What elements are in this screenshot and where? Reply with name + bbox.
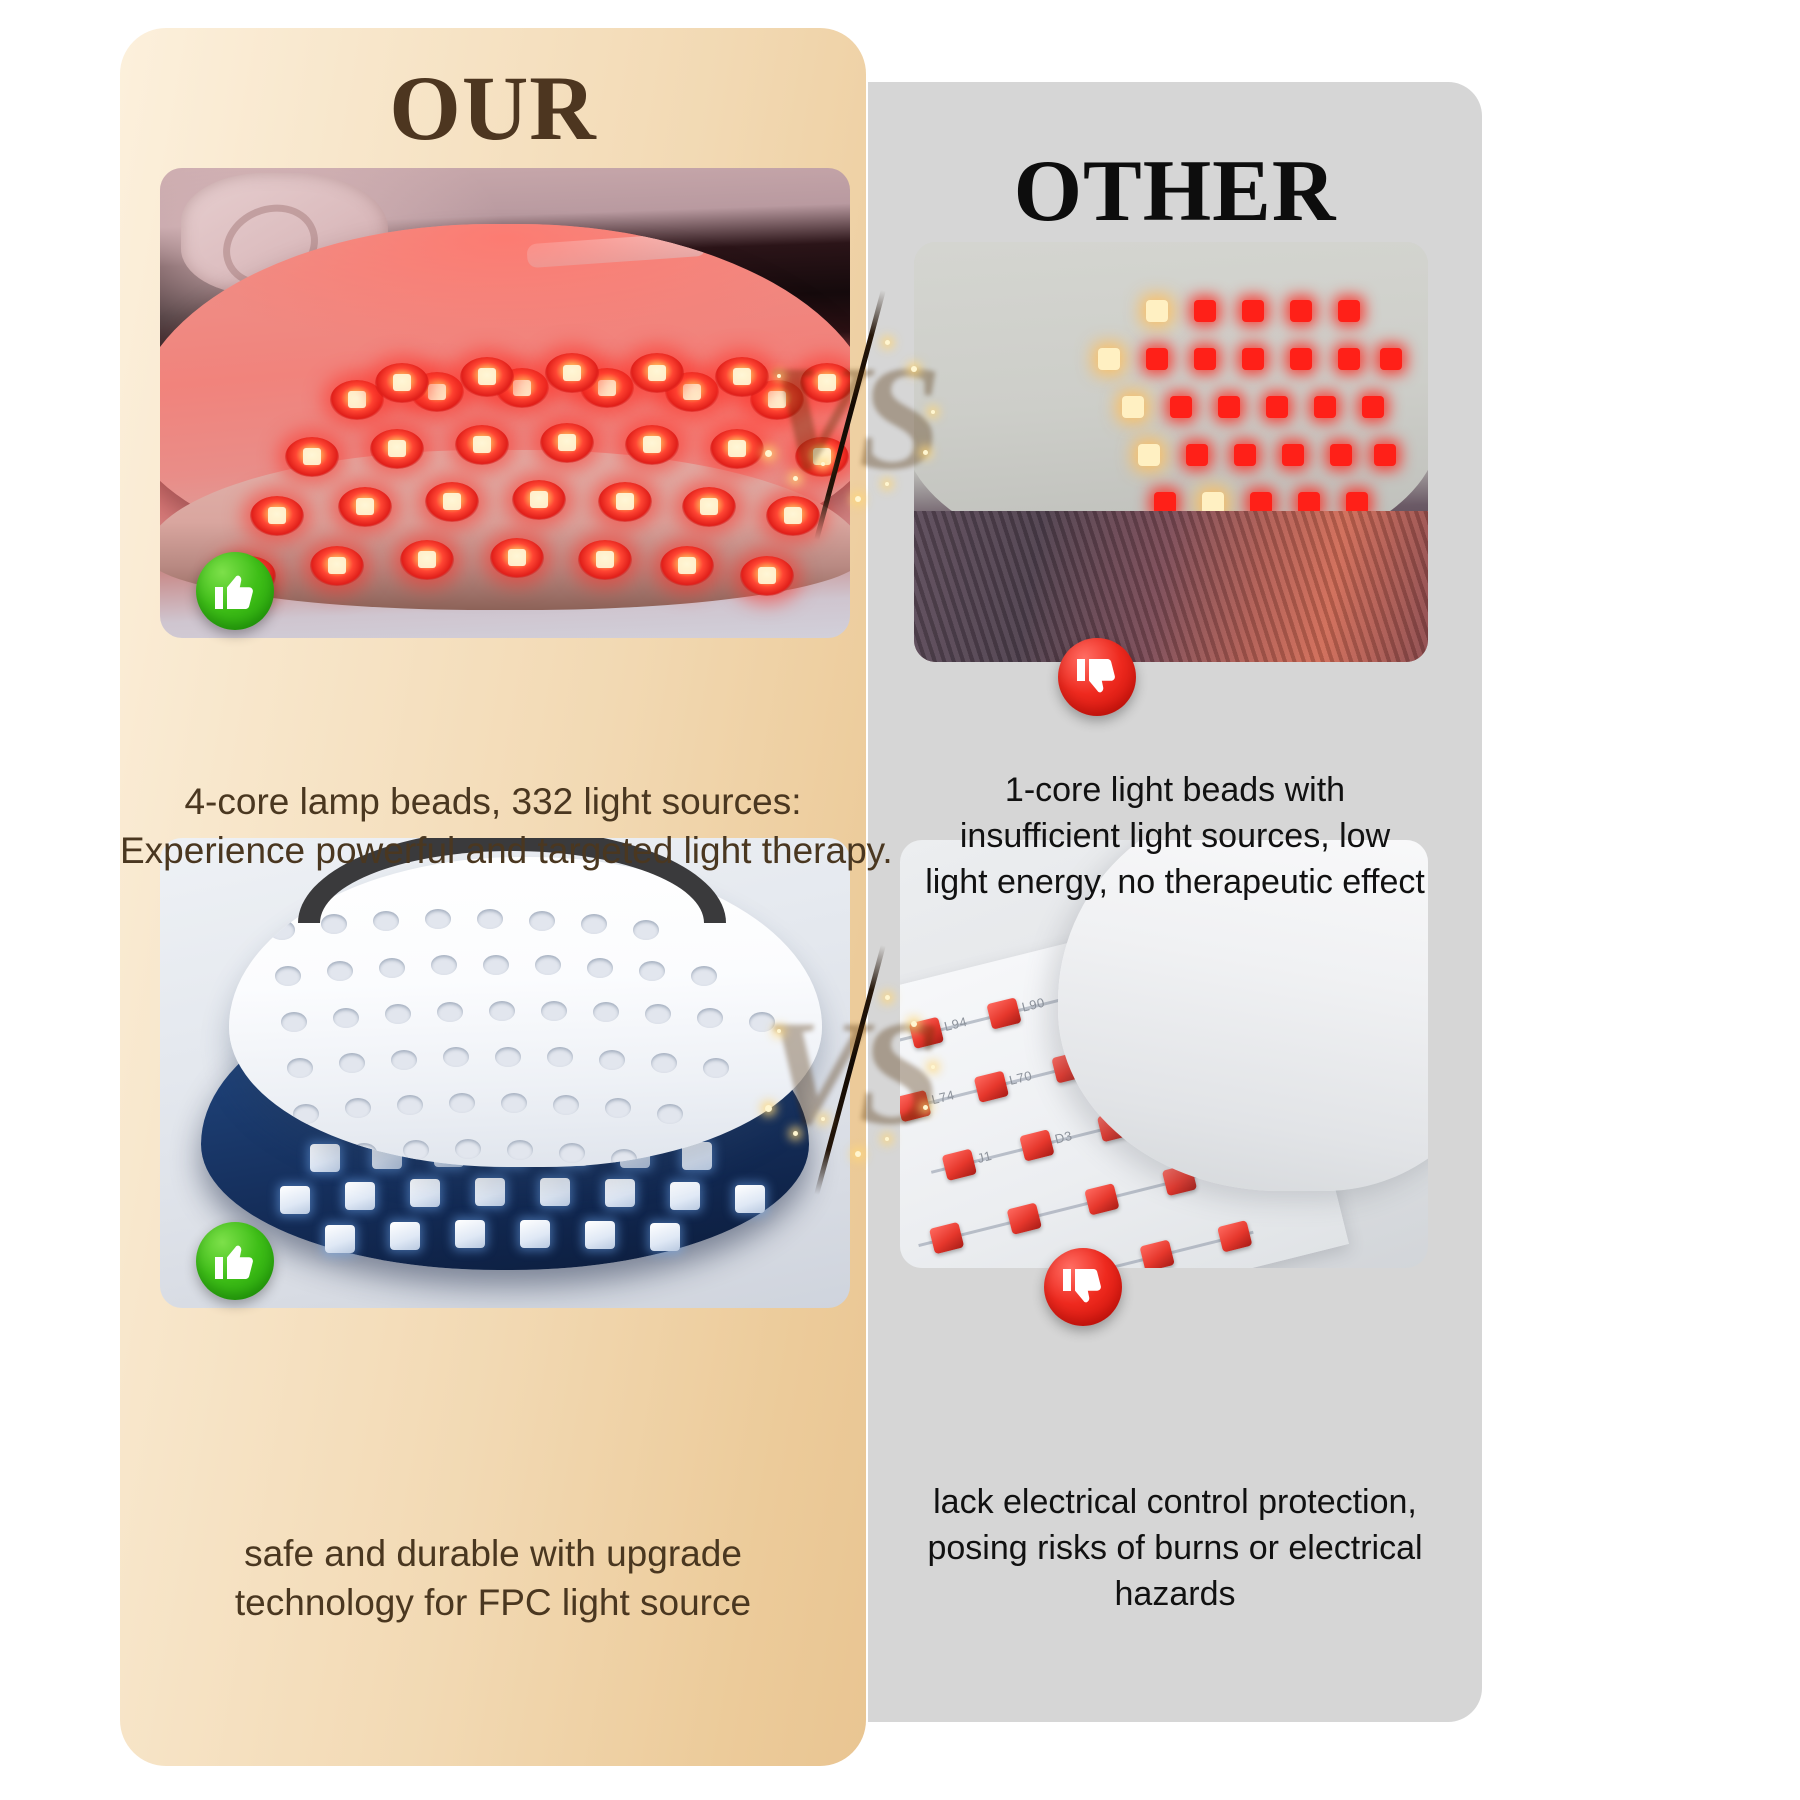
vent-hole: [483, 955, 509, 975]
vent-hole: [507, 1140, 533, 1160]
led-bead: [490, 538, 544, 578]
vent-hole: [275, 966, 301, 986]
thumbs-up-icon: [196, 552, 274, 630]
led-bead: [578, 540, 632, 580]
smd-led: [670, 1182, 700, 1210]
led-dot: [1282, 444, 1304, 466]
vent-hole: [327, 961, 353, 981]
vent-hole: [547, 1047, 573, 1067]
led-dot: [1098, 348, 1120, 370]
led-bead: [425, 482, 479, 522]
comparison-infographic: OUR OTHER: [0, 0, 1800, 1800]
led-bead: [250, 496, 304, 536]
caption-line: insufficient light sources, low: [868, 814, 1482, 860]
sparkle-icon: [765, 450, 772, 457]
other-title: OTHER: [868, 148, 1482, 236]
vs-emblem: VS: [735, 955, 965, 1185]
sparkle-icon: [821, 462, 825, 466]
vent-hole: [703, 1058, 729, 1078]
vent-hole: [501, 1093, 527, 1113]
led-bead: [375, 363, 429, 403]
caption-line: safe and durable with upgrade: [120, 1530, 866, 1579]
vent-hole: [281, 1012, 307, 1032]
vent-hole: [443, 1047, 469, 1067]
vent-hole: [403, 1140, 429, 1160]
led-bead: [682, 487, 736, 527]
caption-line: hazards: [868, 1572, 1482, 1618]
led-bead: [285, 437, 339, 477]
led-dot: [1330, 444, 1352, 466]
vent-hole: [489, 1001, 515, 1021]
pcb-silkscreen-code: J1: [976, 1148, 994, 1166]
thumbs-down-icon: [1058, 638, 1136, 716]
led-dot: [1338, 348, 1360, 370]
vent-hole: [657, 1104, 683, 1124]
vent-hole: [379, 958, 405, 978]
vent-hole: [397, 1095, 423, 1115]
caption-line: technology for FPC light source: [120, 1579, 866, 1628]
vent-hole: [385, 1004, 411, 1024]
led-dot: [1194, 300, 1216, 322]
caption-line: light energy, no therapeutic effect: [868, 860, 1482, 906]
led-bead: [400, 540, 454, 580]
led-bead: [660, 546, 714, 586]
led-dot: [1194, 348, 1216, 370]
led-dot: [1290, 348, 1312, 370]
vent-hole: [287, 1058, 313, 1078]
other-caption-1: 1-core light beads with insufficient lig…: [868, 768, 1482, 906]
vent-hole: [611, 1149, 637, 1167]
smd-led: [650, 1223, 680, 1251]
vent-hole: [293, 1104, 319, 1124]
sparkle-icon: [931, 410, 935, 414]
vent-hole: [587, 958, 613, 978]
smd-led: [280, 1186, 310, 1214]
caption-line: 4-core lamp beads, 332 light sources:: [120, 778, 866, 827]
led-bead: [370, 429, 424, 469]
caption-line: posing risks of burns or electrical: [868, 1526, 1482, 1572]
smd-led: [585, 1221, 615, 1249]
vent-hole: [333, 1008, 359, 1028]
smd-led: [520, 1220, 550, 1248]
led-dot: [1380, 348, 1402, 370]
patterned-fabric: [914, 511, 1428, 662]
vent-hole: [541, 1001, 567, 1021]
led-dot: [1374, 444, 1396, 466]
vent-hole: [339, 1053, 365, 1073]
led-bead: [540, 423, 594, 463]
led-dot: [1186, 444, 1208, 466]
led-bead: [740, 556, 794, 596]
led-bead: [512, 480, 566, 520]
led-dot: [1266, 396, 1288, 418]
led-dot: [1242, 300, 1264, 322]
vent-hole: [593, 1002, 619, 1022]
our-title: OUR: [120, 62, 866, 154]
strip-led: [987, 997, 1022, 1029]
vent-hole: [645, 1004, 671, 1024]
sparkle-icon: [777, 1029, 781, 1033]
vent-hole: [437, 1002, 463, 1022]
vent-hole: [431, 955, 457, 975]
smd-led: [540, 1178, 570, 1206]
smd-led: [390, 1222, 420, 1250]
strip-led: [1140, 1239, 1175, 1268]
smd-led: [735, 1185, 765, 1213]
sparkle-icon: [821, 1117, 825, 1121]
vent-hole: [269, 920, 295, 940]
led-dot: [1362, 396, 1384, 418]
led-bead: [460, 357, 514, 397]
led-dot: [1234, 444, 1256, 466]
vent-hole: [605, 1098, 631, 1118]
pcb-silkscreen-code: L90: [1021, 994, 1047, 1014]
led-dot: [1242, 348, 1264, 370]
smd-led: [455, 1220, 485, 1248]
sparkle-icon: [855, 496, 861, 502]
smd-led: [475, 1178, 505, 1206]
vent-hole: [391, 1050, 417, 1070]
vs-emblem: VS: [735, 300, 965, 530]
sparkle-icon: [855, 1151, 861, 1157]
vent-hole: [691, 966, 717, 986]
vent-hole: [553, 1095, 579, 1115]
vent-hole: [455, 1139, 481, 1159]
caption-line: lack electrical control protection,: [868, 1480, 1482, 1526]
led-dot: [1338, 300, 1360, 322]
led-dot: [1122, 396, 1144, 418]
sparkle-icon: [765, 1105, 772, 1112]
vent-hole: [559, 1143, 585, 1163]
vent-hole: [651, 1053, 677, 1073]
caption-line: Experience powerful and targeted light t…: [120, 827, 866, 876]
smd-led: [410, 1179, 440, 1207]
sparkle-icon: [923, 450, 928, 455]
led-bead: [598, 482, 652, 522]
led-bead: [338, 487, 392, 527]
our-caption-2: safe and durable with upgrade technology…: [120, 1530, 866, 1628]
vent-hole: [299, 1149, 325, 1167]
strip-led: [1007, 1202, 1042, 1234]
led-dot: [1314, 396, 1336, 418]
sparkle-icon: [885, 995, 890, 1000]
thumbs-down-icon: [1044, 1248, 1122, 1326]
vent-hole: [535, 955, 561, 975]
vent-hole: [495, 1047, 521, 1067]
led-bead: [310, 546, 364, 586]
vent-hole: [599, 1050, 625, 1070]
vent-hole: [639, 961, 665, 981]
vs-label: VS: [735, 300, 965, 530]
sparkle-icon: [885, 1137, 889, 1141]
vs-label: VS: [735, 955, 965, 1185]
smd-led: [605, 1179, 635, 1207]
other-caption-2: lack electrical control protection, posi…: [868, 1480, 1482, 1618]
vent-hole: [351, 1143, 377, 1163]
led-dot: [1146, 300, 1168, 322]
sparkle-icon: [911, 1021, 917, 1027]
caption-line: 1-core light beads with: [868, 768, 1482, 814]
strip-led: [929, 1222, 964, 1254]
our-caption-1: 4-core lamp beads, 332 light sources: Ex…: [120, 778, 866, 876]
other-photo-sparse-leds: [914, 242, 1428, 662]
led-dot: [1290, 300, 1312, 322]
led-dot: [1146, 348, 1168, 370]
strip-led: [1085, 1183, 1120, 1215]
sparkle-icon: [885, 340, 890, 345]
led-dot: [1170, 396, 1192, 418]
led-bead: [625, 425, 679, 465]
sparkle-icon: [777, 374, 781, 378]
thumbs-up-icon: [196, 1222, 274, 1300]
pcb-silkscreen-code: D3: [1054, 1128, 1075, 1147]
strip-led: [974, 1070, 1009, 1102]
strip-led: [1020, 1129, 1055, 1161]
vent-hole: [697, 1008, 723, 1028]
strip-led: [1217, 1220, 1252, 1252]
smd-led: [345, 1182, 375, 1210]
led-dot: [1218, 396, 1240, 418]
sparkle-icon: [911, 366, 917, 372]
sparkle-icon: [885, 482, 889, 486]
led-dot: [1138, 444, 1160, 466]
sparkle-icon: [793, 476, 798, 481]
pcb-silkscreen-code: L70: [1008, 1068, 1034, 1088]
vent-hole: [345, 1098, 371, 1118]
led-bead: [455, 425, 509, 465]
vent-hole: [449, 1093, 475, 1113]
smd-led: [325, 1225, 355, 1253]
sparkle-icon: [793, 1131, 798, 1136]
sparkle-icon: [923, 1105, 928, 1110]
sparkle-icon: [931, 1065, 935, 1069]
